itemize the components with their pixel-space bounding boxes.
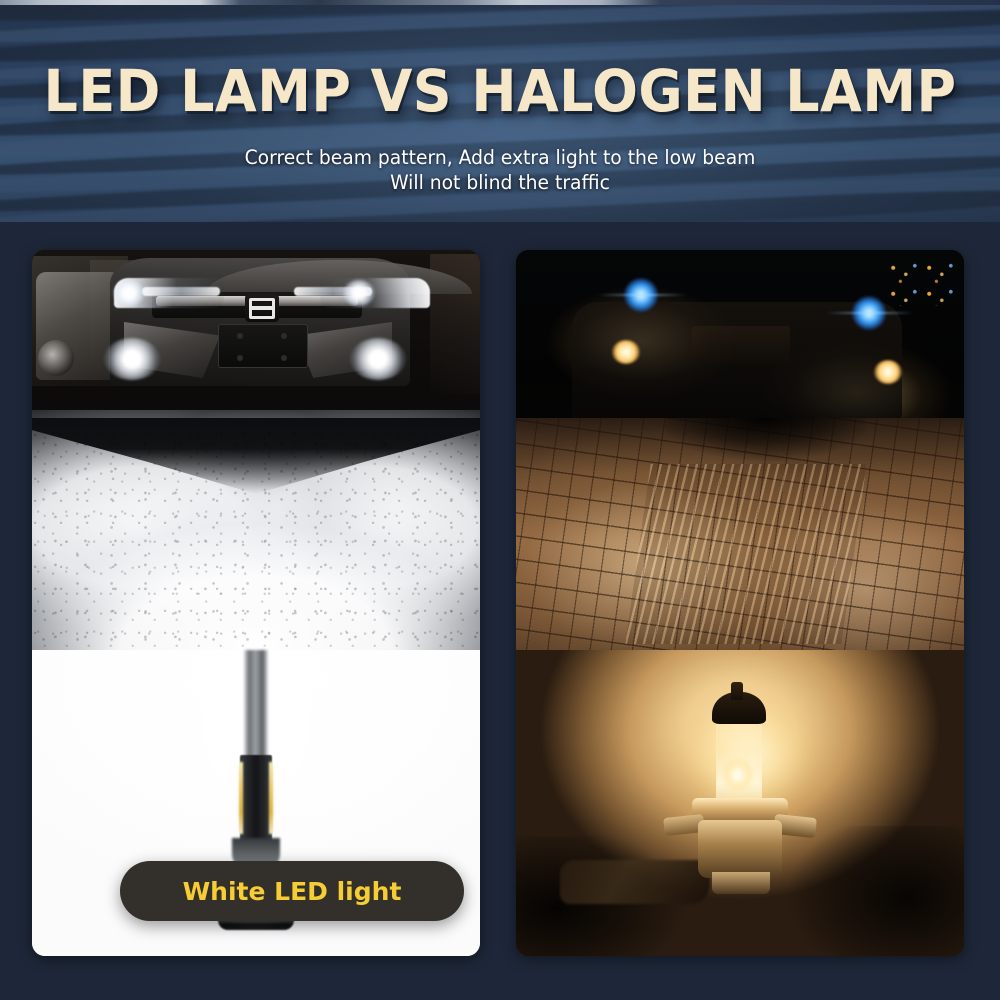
halogen-light-right: [874, 360, 902, 384]
distant-city-lights: [886, 260, 960, 306]
led-emitter-left: [239, 762, 243, 834]
led-emitter-right: [269, 762, 273, 834]
halogen-light-left: [612, 340, 640, 364]
badge-led-label: White LED light: [183, 877, 402, 906]
halogen-base-foot: [712, 872, 770, 894]
headlight-core-right: [344, 280, 374, 306]
page-subtitle: Correct beam pattern, Add extra light to…: [0, 145, 1000, 195]
car-shadow-on-ground: [666, 418, 866, 484]
led-bulb-shaft: [244, 650, 268, 768]
subtitle-line-1: Correct beam pattern, Add extra light to…: [20, 145, 980, 170]
dark-license-plate: [692, 326, 790, 364]
tactile-paving-strip: [625, 464, 866, 644]
panel-led[interactable]: White LED light: [32, 250, 480, 956]
honda-logo-icon: [245, 294, 279, 322]
halogen-photo: [516, 250, 964, 956]
header-wave-band: [0, 0, 1000, 47]
asphalt-texture: [32, 430, 480, 670]
top-edge-strip: [0, 0, 1000, 5]
led-photo: [32, 250, 480, 956]
halogen-wire-harness: [560, 860, 710, 904]
blue-flare-ray-left: [598, 294, 686, 296]
subtitle-line-2: Will not blind the traffic: [20, 170, 980, 195]
halogen-vignette-right: [772, 826, 964, 956]
halogen-filament: [724, 758, 752, 792]
halogen-exhaust-tip: [731, 682, 743, 700]
headlight-core-left: [114, 280, 144, 306]
halogen-bulb-base: [698, 820, 782, 878]
badge-white-led-light: White LED light: [120, 861, 464, 921]
blue-flare-ray-right: [826, 312, 914, 314]
fog-light-right: [350, 338, 406, 380]
page-title: LED LAMP VS HALOGEN LAMP: [35, 57, 965, 125]
fog-light-left: [104, 338, 160, 380]
comparison-infographic: LED LAMP VS HALOGEN LAMP Correct beam pa…: [0, 0, 1000, 1000]
panel-halogen[interactable]: yellow halogen lamp: [516, 250, 964, 956]
led-chip-board: [240, 755, 272, 845]
comparison-panels: White LED light: [0, 250, 1000, 960]
license-plate-holder: [218, 324, 308, 368]
drl-strip-left: [142, 287, 220, 296]
background-car-wheel: [38, 340, 74, 376]
